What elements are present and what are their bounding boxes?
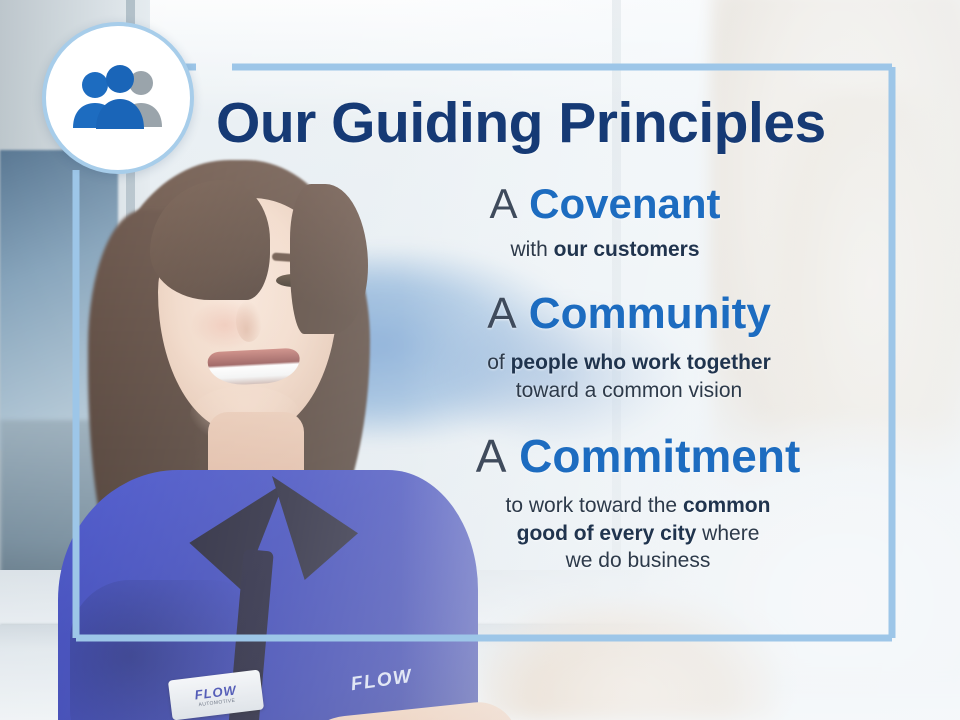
principle-3-heading: A Commitment [300,430,880,482]
people-group-icon [70,65,166,131]
principle-covenant: A Covenant with our customers [300,180,880,263]
principles-block: A Covenant with our customers A Communit… [300,178,880,574]
principle-2-subline-bold: people who work together [511,351,771,374]
principle-community: A Community of people who work together … [300,289,880,404]
photo-customer-arm [480,600,780,720]
principle-3-subline-row1: to work toward the common [396,492,880,519]
principle-2-heading: A Community [300,289,880,339]
principle-1-subline-plain: with [510,238,553,261]
principle-2-subline-row2: toward a common vision [378,377,880,404]
principle-commitment: A Commitment to work toward the common g… [300,430,880,574]
principle-1-heading: A Covenant [300,180,880,228]
principle-1-article: A [489,180,517,227]
principle-3-subline-plain: to work toward the [506,494,683,517]
principle-2-subline: of people who work together toward a com… [300,349,880,404]
principle-3-subline-plain-3: where [696,522,759,545]
principle-2-article: A [487,289,516,338]
principle-3-subline-row2: good of every city where [396,520,880,547]
banner-image: FLOW AUTOMOTIVE FLOW Our Guiding Princ [0,0,960,720]
principle-3-subline-bold-1: common [683,494,771,517]
principle-3-article: A [476,430,507,482]
principle-3-subline-row3: we do business [396,547,880,574]
principle-1-subline-bold: our customers [554,238,700,261]
principle-3-subline: to work toward the common good of every … [300,492,880,574]
principle-1-keyword: Covenant [529,180,720,227]
principle-3-keyword: Commitment [519,430,800,482]
page-title: Our Guiding Principles [216,94,876,152]
principle-2-keyword: Community [529,289,771,338]
principle-3-subline-bold-2: good of every city [517,522,697,545]
principle-2-subline-plain: of [487,351,510,374]
principle-2-subline-row1: of people who work together [378,349,880,376]
people-badge [42,22,194,174]
employee-nose [236,300,262,342]
principle-1-subline: with our customers [300,236,880,263]
